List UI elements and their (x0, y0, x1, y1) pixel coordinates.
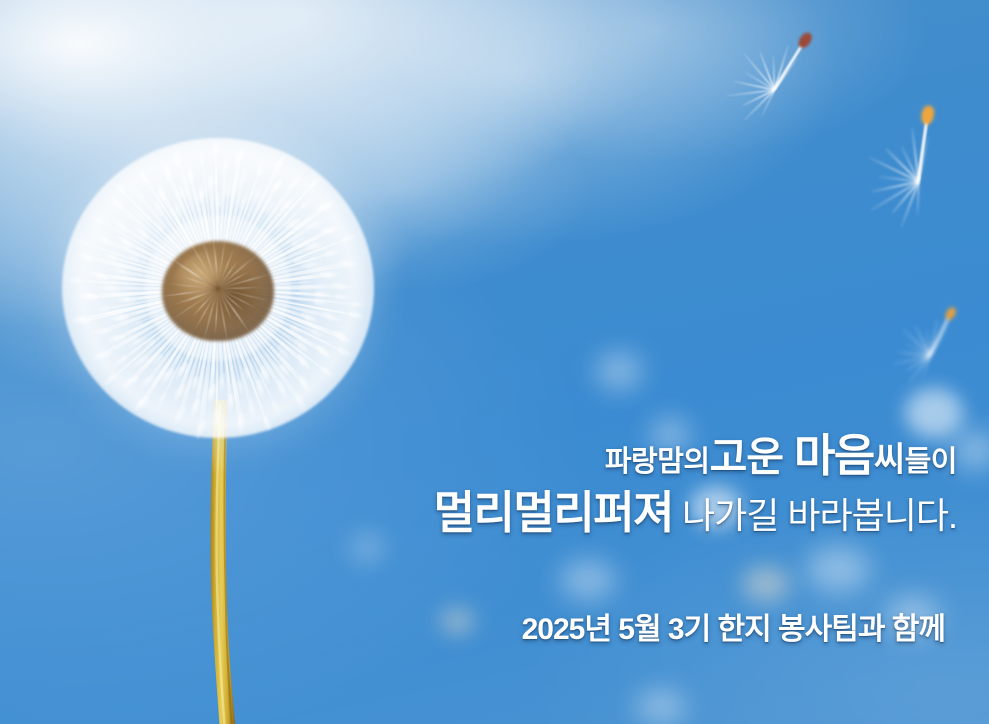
blurred-seed (352, 536, 382, 560)
headline-seg-1: 파랑맘의 (605, 446, 710, 478)
credit-line: 2025년 5월 3기 한지 봉사팀과 함께 (522, 604, 945, 648)
headline-copy: 파랑맘의고운 마음씨들이 멀리멀리퍼져 나가길 바라봅니다. (0, 430, 957, 539)
headline-line-1: 파랑맘의고운 마음씨들이 (0, 430, 957, 482)
headline-seg-5: 들이 (905, 446, 957, 478)
blurred-seed (440, 608, 474, 634)
headline-seg-6: 멀리멀리퍼져 (434, 487, 673, 538)
blurred-seed (560, 560, 616, 600)
blurred-seed (596, 352, 642, 390)
dandelion-banner: 파랑맘의고운 마음씨들이 멀리멀리퍼져 나가길 바라봅니다. 2025년 5월 … (0, 0, 989, 724)
headline-seg-4: 씨 (874, 441, 905, 479)
headline-seg-7: 나가길 바라봅니다. (673, 495, 957, 536)
headline-line-2: 멀리멀리퍼져 나가길 바라봅니다. (0, 487, 957, 539)
headline-seg-2: 고운 (710, 434, 783, 480)
blurred-seed (636, 690, 686, 724)
headline-seg-3: 마음 (783, 430, 874, 481)
blurred-seed (742, 566, 790, 602)
dandelion-seed-head (62, 138, 374, 438)
blurred-seed (806, 546, 870, 592)
